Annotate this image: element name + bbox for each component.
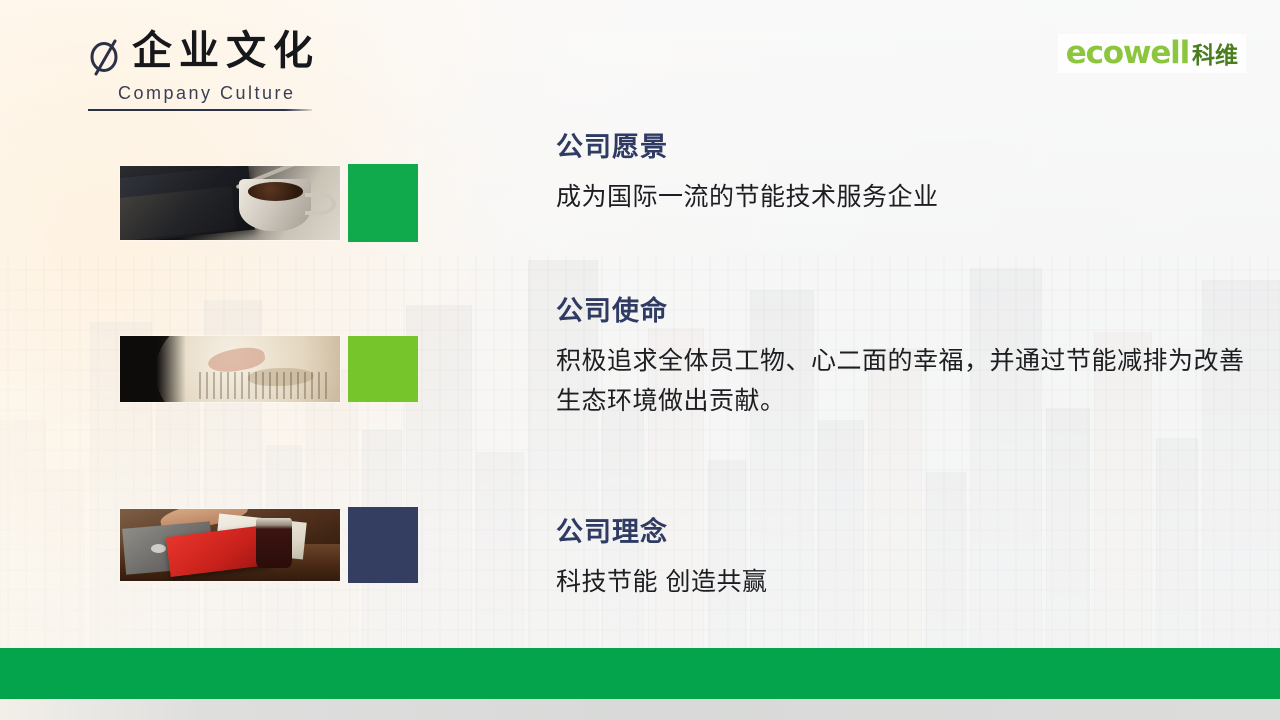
media-row-2 <box>120 336 422 402</box>
page-subtitle: Company Culture <box>118 83 296 104</box>
section-philosophy-body: 科技节能 创造共赢 <box>556 562 1256 603</box>
footer-green-bar <box>0 648 1280 699</box>
globe-closeup-photo <box>120 336 340 402</box>
light-green-swatch <box>348 336 418 402</box>
logo-wordmark: ecowell <box>1066 38 1189 69</box>
section-mission-body: 积极追求全体员工物、心二面的幸福，并通过节能减排为改善生态环境做出贡献。 <box>556 341 1256 422</box>
media-row-1 <box>120 166 422 240</box>
section-mission-heading: 公司使命 <box>556 297 1256 327</box>
slashed-circle-leaf-icon <box>88 38 122 78</box>
title-underline-rule <box>88 109 312 111</box>
page-title: 企业文化 <box>132 28 320 75</box>
section-mission: 公司使命 积极追求全体员工物、心二面的幸福，并通过节能减排为改善生态环境做出贡献… <box>556 297 1256 422</box>
section-philosophy: 公司理念 科技节能 创造共赢 <box>556 518 1256 602</box>
green-swatch <box>348 164 418 242</box>
laptop-notebook-jar-photo <box>120 509 340 581</box>
company-logo: ecowell 科维 <box>1058 34 1246 73</box>
slide-canvas: 企业文化 Company Culture ecowell 科维 <box>0 0 1280 720</box>
section-vision: 公司愿景 成为国际一流的节能技术服务企业 <box>556 133 1256 217</box>
section-vision-heading: 公司愿景 <box>556 133 1256 163</box>
logo-wordmark-cn: 科维 <box>1192 44 1238 67</box>
notebook-and-coffee-photo <box>120 166 340 240</box>
section-philosophy-heading: 公司理念 <box>556 518 1256 548</box>
media-row-3 <box>120 509 422 581</box>
footer-bottom-strip <box>0 699 1280 720</box>
section-vision-body: 成为国际一流的节能技术服务企业 <box>556 177 1256 218</box>
navy-swatch <box>348 507 418 583</box>
